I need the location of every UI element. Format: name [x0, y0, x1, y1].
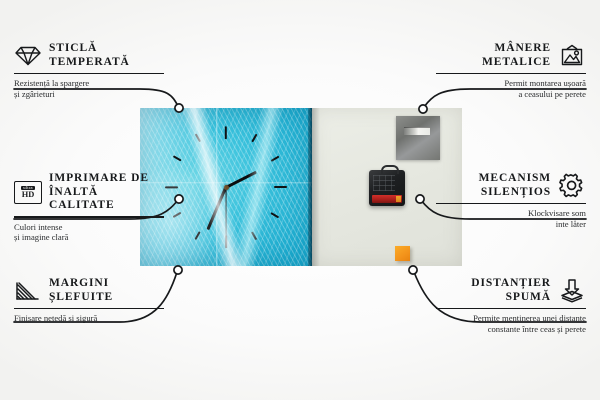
callout-edges-sub1: Finisare netedă și sigură [14, 313, 164, 324]
callout-glass-sub1: Rezistență la spargere [14, 78, 164, 89]
movement-texture [373, 175, 395, 191]
clock-tick [173, 156, 182, 162]
clock-dial-face [140, 108, 312, 266]
battery [372, 195, 402, 203]
clock-tick [195, 134, 201, 143]
clock-center-hub [224, 185, 229, 190]
callout-handles-sub1: Permit montarea ușoară [436, 78, 586, 89]
panel-shadow [312, 108, 320, 266]
clock-tick [225, 126, 227, 139]
connector-dot-spacer [409, 266, 417, 274]
clock-tick [173, 212, 182, 218]
clock-tick [165, 186, 178, 188]
callout-handles-title: MÂNERE METALICE [482, 42, 551, 69]
callout-mechanism-head: MECANISM SILENȚIOS [436, 172, 586, 199]
quartz-movement [369, 170, 405, 206]
callout-spacer-sub1: Permite menținerea unei distanțe [436, 313, 586, 324]
callout-glass-sub2: și zgârieturi [14, 89, 164, 100]
callout-print: ultra HD IMPRIMARE DE ÎNALTĂ CALITATE Cu… [14, 172, 164, 243]
callout-edges: MARGINI ȘLEFUITE Finisare netedă și sigu… [14, 277, 164, 324]
callout-rule [436, 308, 586, 310]
gear-icon [558, 173, 586, 199]
callout-rule [14, 73, 164, 75]
callout-print-sub2: și imagine clară [14, 232, 164, 243]
hanger-slot [404, 127, 430, 135]
callout-mechanism-sub2: inte låter [436, 219, 586, 230]
dial-seam-vertical [216, 108, 218, 266]
callout-spacer-sub2: constante între ceas și perete [436, 324, 586, 335]
clock-tick [251, 134, 257, 143]
clock-second-hand [225, 187, 226, 239]
foam-spacer [395, 246, 410, 261]
dial-seam-horizontal [140, 182, 312, 184]
callout-print-title: IMPRIMARE DE ÎNALTĂ CALITATE [49, 172, 164, 213]
callout-print-sub1: Culori intense [14, 222, 164, 233]
polished-edge-icon [14, 280, 42, 302]
down-arrow-stack-icon [558, 278, 586, 304]
callout-glass-head: STICLĂ TEMPERATĂ [14, 42, 164, 69]
metal-hanger-plate [396, 116, 440, 160]
callout-handles-sub2: a ceasului pe perete [436, 89, 586, 100]
battery-positive-cap [396, 196, 401, 202]
callout-mechanism: MECANISM SILENȚIOS Klockvisare som inte … [436, 172, 586, 229]
callout-glass-title: STICLĂ TEMPERATĂ [49, 42, 130, 69]
callout-print-head: ultra HD IMPRIMARE DE ÎNALTĂ CALITATE [14, 172, 164, 213]
callout-mechanism-sub1: Klockvisare som [436, 208, 586, 219]
picture-hanger-icon [558, 44, 586, 68]
callout-spacer-title: DISTANȚIER SPUMĂ [471, 277, 551, 304]
callout-spacer: DISTANȚIER SPUMĂ Permite menținerea unei… [436, 277, 586, 334]
callout-spacer-head: DISTANȚIER SPUMĂ [436, 277, 586, 304]
callout-rule [14, 308, 164, 310]
movement-hanging-loop [381, 165, 399, 174]
callout-rule [14, 216, 164, 218]
clock-tick [271, 212, 280, 218]
clock-minute-hand [207, 187, 227, 230]
clock-tick [195, 232, 201, 241]
clock-tick [274, 186, 287, 188]
callout-mechanism-title: MECANISM SILENȚIOS [479, 172, 551, 199]
clock-tick [251, 232, 257, 241]
connector-dot-edges [174, 266, 182, 274]
ultra-hd-icon: ultra HD [14, 181, 42, 204]
callout-handles-head: MÂNERE METALICE [436, 42, 586, 69]
infographic-canvas: STICLĂ TEMPERATĂ Rezistență la spargere … [0, 0, 600, 400]
clock-tick [225, 235, 227, 248]
diamond-icon [14, 45, 42, 67]
callout-rule [436, 73, 586, 75]
clock-tick [271, 156, 280, 162]
callout-edges-head: MARGINI ȘLEFUITE [14, 277, 164, 304]
clock-hour-hand [225, 170, 257, 188]
callout-edges-title: MARGINI ȘLEFUITE [49, 277, 113, 304]
callout-rule [436, 203, 586, 205]
callout-handles: MÂNERE METALICE Permit montarea ușoară a… [436, 42, 586, 99]
callout-glass: STICLĂ TEMPERATĂ Rezistență la spargere … [14, 42, 164, 99]
